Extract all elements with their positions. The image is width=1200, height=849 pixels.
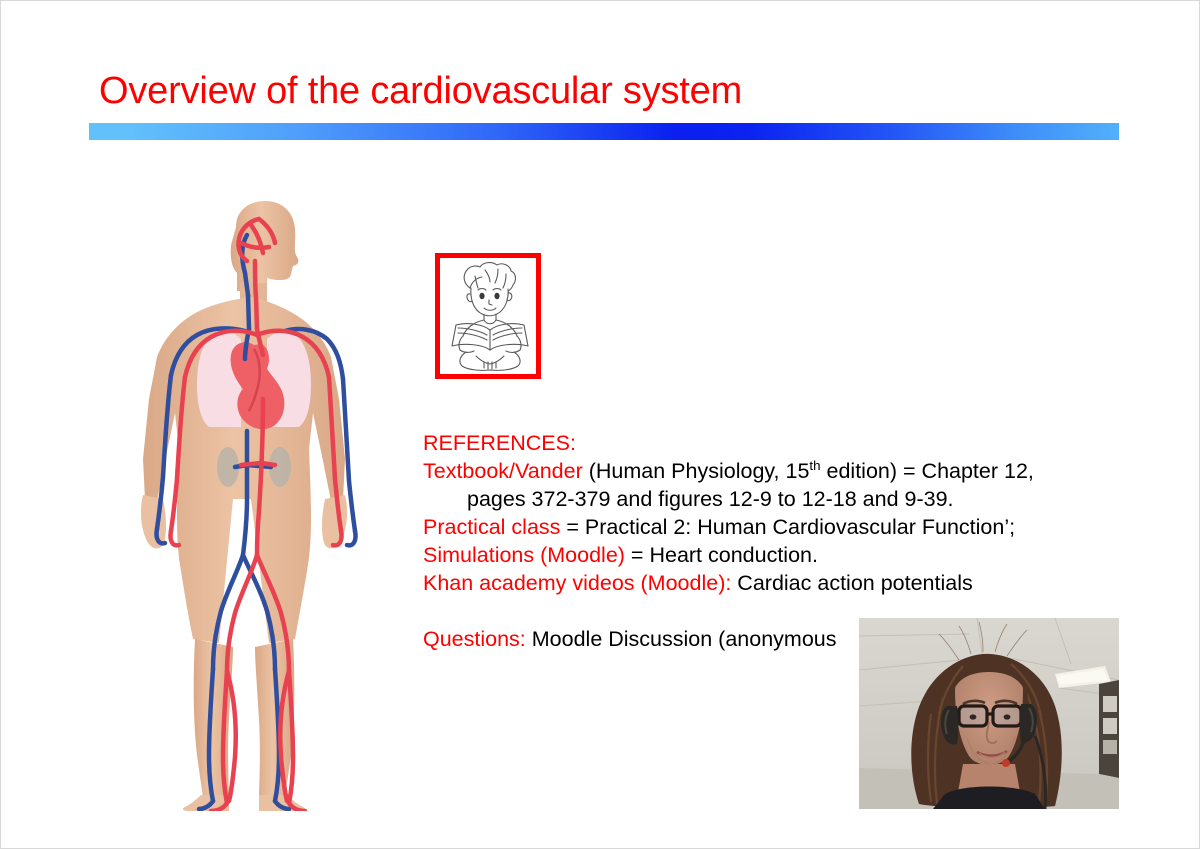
- title-divider-bar: [89, 123, 1119, 140]
- references-heading: REFERENCES:: [423, 429, 1063, 457]
- presenter-webcam-feed[interactable]: [859, 618, 1119, 809]
- body-silhouette: [141, 201, 347, 811]
- reference-line-pages: pages 372-379 and figures 12-9 to 12-18 …: [423, 485, 1063, 513]
- reference-line-textbook: Textbook/Vander (Human Physiology, 15th …: [423, 457, 1063, 485]
- cardiovascular-body-figure: [141, 199, 389, 811]
- child-reading-book-icon: [435, 253, 541, 379]
- reference-line-khan-academy: Khan academy videos (Moodle): Cardiac ac…: [423, 569, 1063, 597]
- page-title: Overview of the cardiovascular system: [99, 68, 999, 114]
- reference-line-simulations: Simulations (Moodle) = Heart conduction.: [423, 541, 1063, 569]
- presentation-slide: Overview of the cardiovascular system: [0, 0, 1200, 849]
- reference-line-practical-class: Practical class = Practical 2: Human Car…: [423, 513, 1063, 541]
